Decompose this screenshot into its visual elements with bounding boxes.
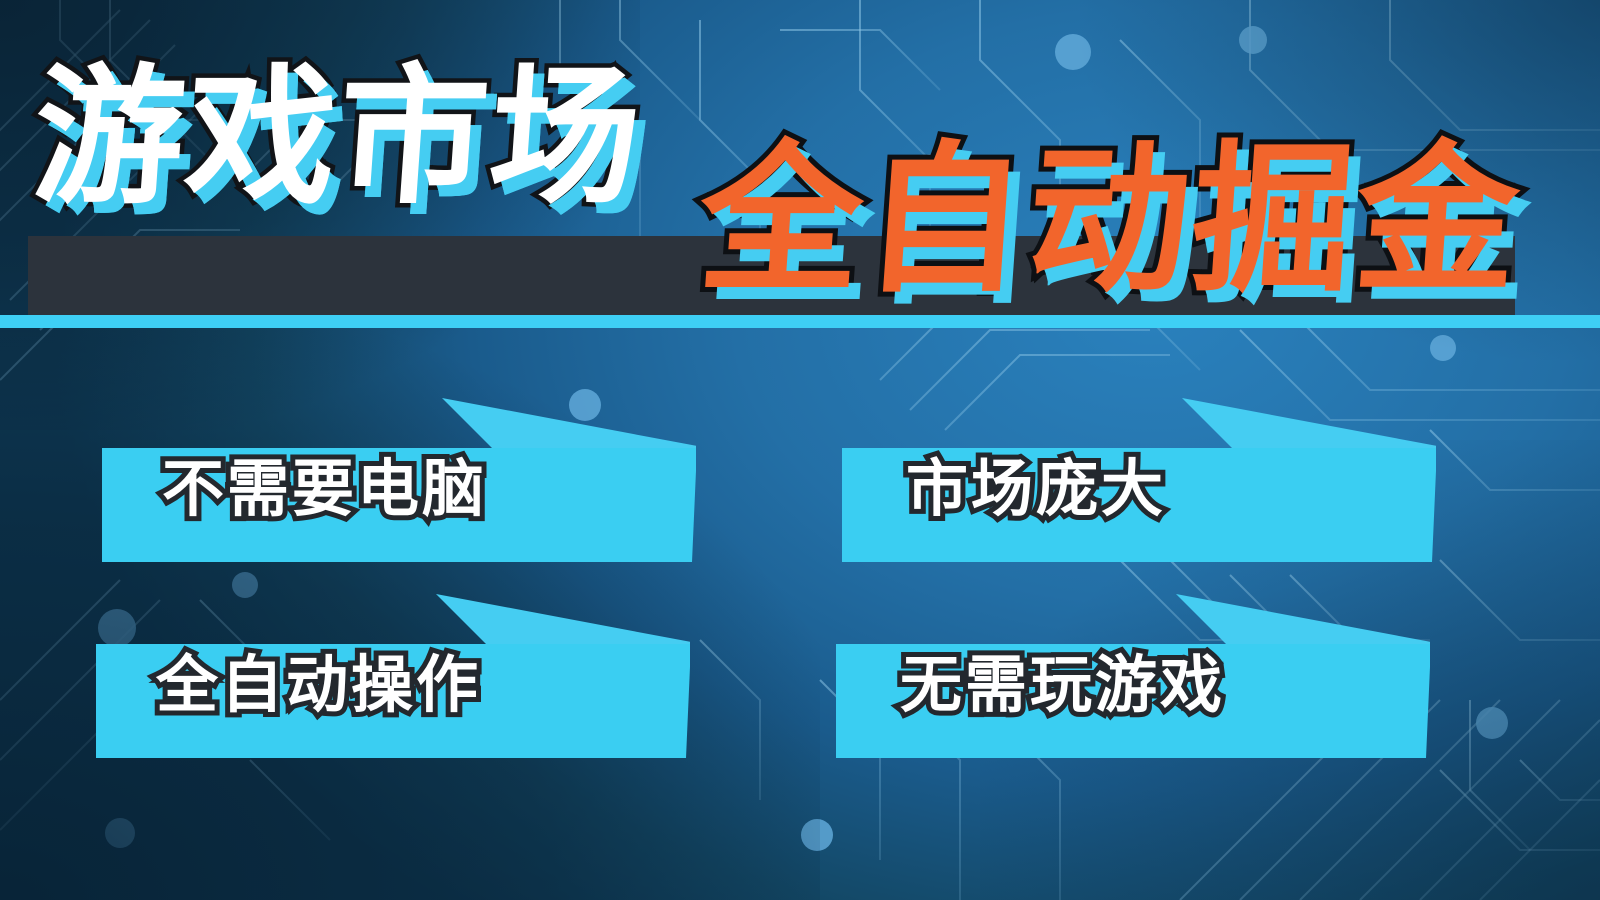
feature-box-no-computer[interactable]: 不需要电脑 [96, 392, 696, 572]
feature-label: 全自动操作 [156, 654, 481, 716]
feature-label: 市场庞大 [906, 458, 1166, 520]
feature-box-fully-automatic[interactable]: 全自动操作 [90, 588, 690, 768]
promo-banner: 游戏市场 全自动掘金 不需要电脑 市场庞大 全自动操作 无需玩游戏 [0, 0, 1600, 900]
feature-label: 不需要电脑 [162, 458, 487, 520]
feature-box-no-gameplay[interactable]: 无需玩游戏 [830, 588, 1430, 768]
headline-accent: 全自动掘金 [694, 140, 1525, 302]
feature-box-large-market[interactable]: 市场庞大 [836, 392, 1436, 572]
headline-primary: 游戏市场 [29, 63, 648, 213]
feature-label: 无需玩游戏 [900, 654, 1225, 716]
title-underline-bar [0, 315, 1600, 328]
